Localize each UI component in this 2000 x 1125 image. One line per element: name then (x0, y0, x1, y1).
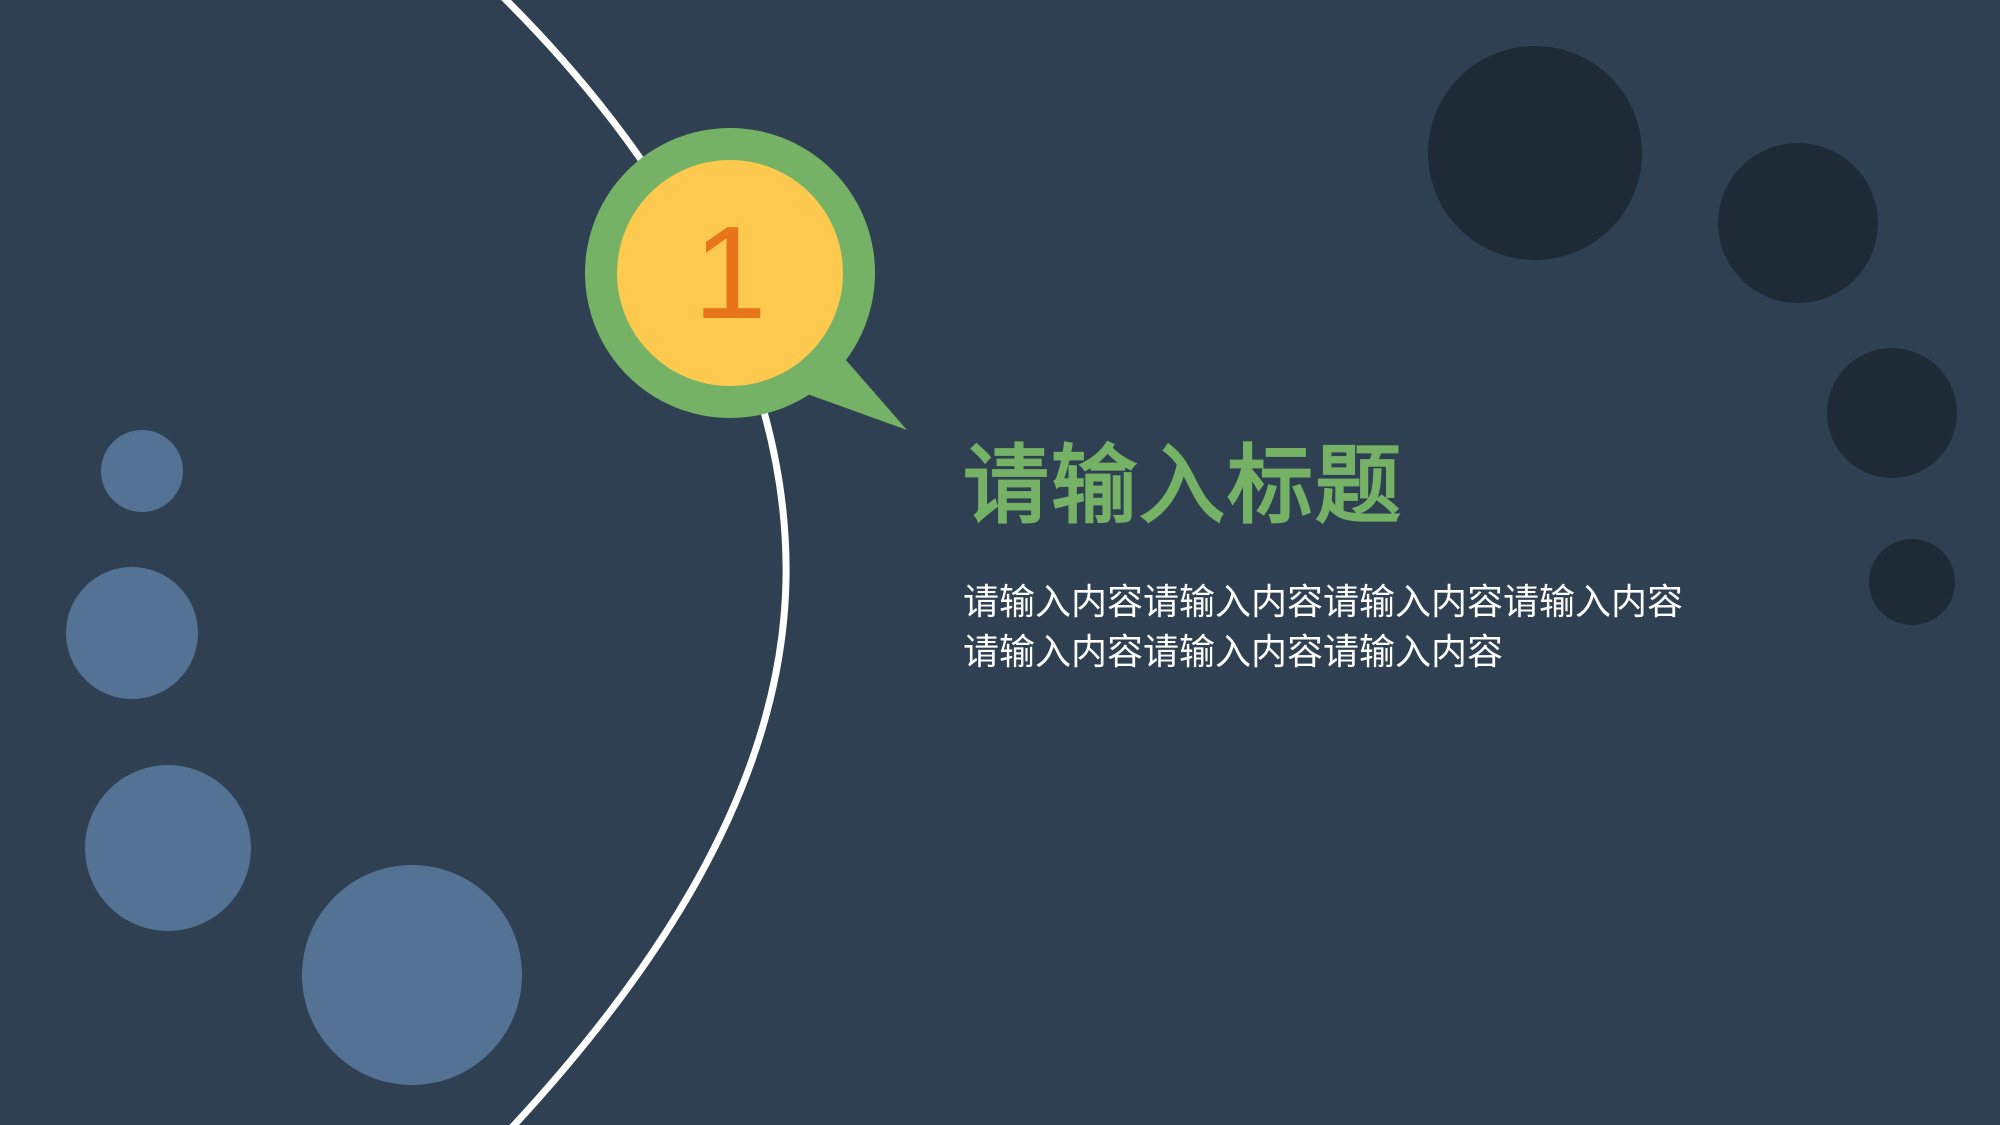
body-text: 请输入内容请输入内容请输入内容请输入内容请输入内容请输入内容请输入内容 (963, 577, 1708, 676)
blue-circle-4 (302, 865, 522, 1085)
badge-number-label: 1 (585, 128, 875, 418)
page-title: 请输入标题 (963, 440, 1763, 533)
numbered-pin-badge[interactable]: 1 (585, 128, 925, 448)
blue-circle-1 (101, 430, 183, 512)
blue-circle-3 (85, 765, 251, 931)
text-block: 请输入标题 请输入内容请输入内容请输入内容请输入内容请输入内容请输入内容请输入内… (963, 440, 1763, 676)
slide-canvas: 1 请输入标题 请输入内容请输入内容请输入内容请输入内容请输入内容请输入内容请输… (0, 0, 2000, 1125)
blue-circle-2 (66, 567, 198, 699)
